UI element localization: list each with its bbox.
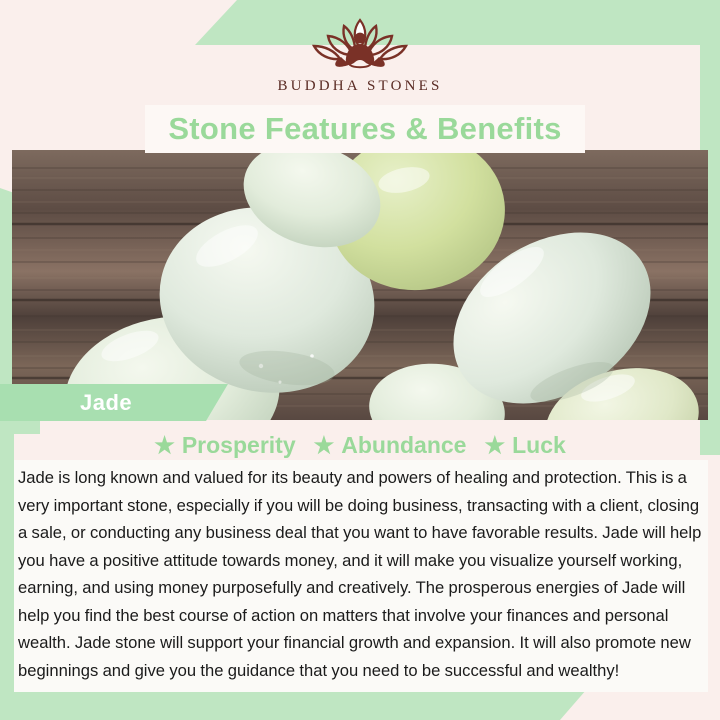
lotus-meditation-figure-icon xyxy=(300,14,420,76)
decorative-band-left-lower xyxy=(0,434,14,674)
stone-name-label: Jade xyxy=(80,390,132,416)
brand-name: BUDDHA STONES xyxy=(277,78,442,95)
title-banner: Stone Features & Benefits xyxy=(145,105,585,153)
star-icon: ★ xyxy=(314,434,335,457)
benefit-item-abundance: ★ Abundance xyxy=(314,432,467,459)
star-icon: ★ xyxy=(154,434,175,457)
page-title: Stone Features & Benefits xyxy=(168,111,561,147)
benefit-item-luck: ★ Luck xyxy=(484,432,565,459)
jade-stones-illustration xyxy=(12,150,708,420)
benefit-item-prosperity: ★ Prosperity xyxy=(154,432,295,459)
brand-logo: BUDDHA STONES xyxy=(0,14,720,104)
benefit-label: Abundance xyxy=(341,432,466,459)
description-panel: Jade is long known and valued for its be… xyxy=(14,460,708,692)
star-icon: ★ xyxy=(484,434,505,457)
poster-card: BUDDHA STONES Stone Features & Benefits xyxy=(0,0,720,720)
benefit-label: Luck xyxy=(512,432,566,459)
description-text: Jade is long known and valued for its be… xyxy=(18,464,704,684)
stone-photo xyxy=(12,150,708,420)
stone-name-badge: Jade xyxy=(0,384,228,421)
benefit-label: Prosperity xyxy=(182,432,296,459)
benefits-row: ★ Prosperity ★ Abundance ★ Luck xyxy=(0,432,720,459)
